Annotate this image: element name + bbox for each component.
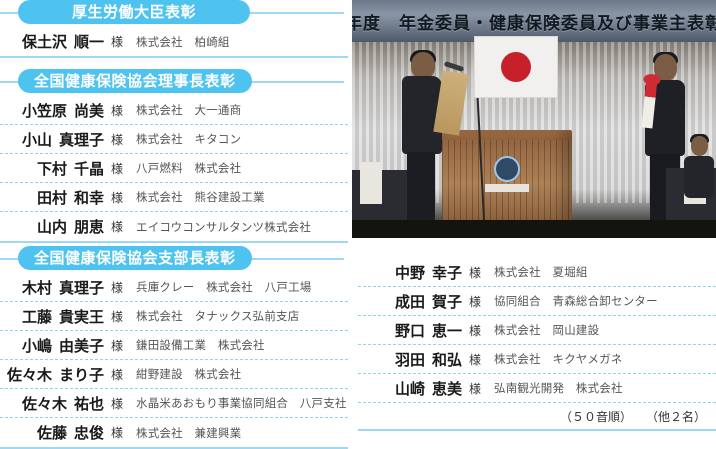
recipient-name: 下村 千晶 <box>0 158 104 179</box>
recipient-name: 佐々木 まり子 <box>0 364 104 385</box>
award-list-page: 年度 年金委員・健康保険委員及び事業主表彰 <box>0 0 716 441</box>
seated-official-figure <box>682 134 716 230</box>
section-end-rule <box>0 241 348 243</box>
honorific: 様 <box>104 308 130 325</box>
given-name: 千晶 <box>74 158 104 179</box>
recipient-name: 保土沢 順一 <box>0 31 104 52</box>
recipient-name: 野口 恵一 <box>358 320 462 341</box>
given-name: 和幸 <box>74 187 104 208</box>
honorific: 様 <box>104 337 130 354</box>
table-row: 下村 千晶 様 八戸燃料 株式会社 <box>0 154 348 183</box>
given-name: 真理子 <box>59 129 104 150</box>
given-name: 尚美 <box>74 100 104 121</box>
recipient-name: 成田 賀子 <box>358 291 462 312</box>
recipient-name: 山崎 恵美 <box>358 378 462 399</box>
company-name: 鎌田設備工業 株式会社 <box>136 337 265 353</box>
company-name: 株式会社 タナックス弘前支店 <box>136 308 299 324</box>
table-row: 山内 朋恵 様 エイコウコンサルタンツ株式会社 <box>0 212 348 241</box>
surname: 佐々木 <box>7 364 52 385</box>
section-header-chairman: 全国健康保険協会理事長表彰 <box>0 69 348 94</box>
recipient-name: 小山 真理子 <box>0 129 104 150</box>
podium-emblem-icon <box>494 156 520 182</box>
given-name: 恵一 <box>432 320 462 341</box>
surname: 成田 <box>395 291 425 312</box>
upper-left-column: 厚生労働大臣表彰 保土沢 順一 様 株式会社 柏崎組 全国健康保険協会理事長表彰 <box>0 0 348 243</box>
presenter-figure <box>398 48 446 228</box>
honorific: 様 <box>104 102 130 119</box>
given-name: 恵美 <box>432 378 462 399</box>
recipient-name: 佐々木 祐也 <box>0 393 104 414</box>
surname: 小笠原 <box>22 100 67 121</box>
surname: 保土沢 <box>22 31 67 52</box>
honorific: 様 <box>462 293 488 310</box>
section-header-branch: 全国健康保険協会支部長表彰 <box>0 246 348 271</box>
ceremony-photo: 年度 年金委員・健康保険委員及び事業主表彰 <box>352 0 716 238</box>
given-name: 真理子 <box>59 277 104 298</box>
surname: 下村 <box>37 158 67 179</box>
table-row: 野口 恵一 様 株式会社 岡山建設 <box>358 316 716 345</box>
company-name: 協同組合 青森総合卸センター <box>494 293 658 309</box>
honorific: 様 <box>462 351 488 368</box>
name-card-left <box>360 162 382 204</box>
surname: 佐藤 <box>37 422 67 443</box>
section-title: 全国健康保険協会支部長表彰 <box>34 251 236 266</box>
table-row: 木村 真理子 様 兵庫クレー 株式会社 八戸工場 <box>0 273 348 302</box>
surname: 小山 <box>22 129 52 150</box>
others-note: （他２名） <box>646 408 706 425</box>
given-name: 朋恵 <box>74 216 104 237</box>
recipient-name: 中野 幸子 <box>358 262 462 283</box>
honorific: 様 <box>104 424 130 441</box>
section-header-minister: 厚生労働大臣表彰 <box>0 0 348 25</box>
recipient-name: 木村 真理子 <box>0 277 104 298</box>
company-name: 弘南観光開発 株式会社 <box>494 380 623 396</box>
honorific: 様 <box>104 279 130 296</box>
section-title: 厚生労働大臣表彰 <box>72 5 196 20</box>
company-name: 株式会社 大一通商 <box>136 102 241 118</box>
table-row: 小笠原 尚美 様 株式会社 大一通商 <box>0 96 348 125</box>
award-rows-minister: 保土沢 順一 様 株式会社 柏崎組 <box>0 27 348 56</box>
order-note: （５０音順） <box>560 408 632 425</box>
honorific: 様 <box>104 131 130 148</box>
japan-flag-icon <box>474 36 558 98</box>
table-row: 保土沢 順一 様 株式会社 柏崎組 <box>0 27 348 56</box>
photo-banner-text: 年度 年金委員・健康保険委員及び事業主表彰 <box>352 9 716 34</box>
recipient-name: 佐藤 忠俊 <box>0 422 104 443</box>
honorific: 様 <box>104 189 130 206</box>
table-row: 工藤 貴実王 様 株式会社 タナックス弘前支店 <box>0 302 348 331</box>
honorific: 様 <box>104 366 130 383</box>
recipient-name: 小笠原 尚美 <box>0 100 104 121</box>
company-name: 株式会社 夏堀組 <box>494 264 588 280</box>
surname: 山崎 <box>395 378 425 399</box>
section-title: 全国健康保険協会理事長表彰 <box>34 74 236 89</box>
surname: 小嶋 <box>22 335 52 356</box>
branch-rows-left: 木村 真理子 様 兵庫クレー 株式会社 八戸工場 工藤 貴実王 様 株式会社 タ… <box>0 273 348 449</box>
table-row: 田村 和幸 様 株式会社 熊谷建設工業 <box>0 183 348 212</box>
company-name: 株式会社 岡山建設 <box>494 322 599 338</box>
given-name: まり子 <box>59 364 104 385</box>
recipient-name: 小嶋 由美子 <box>0 335 104 356</box>
section-pill: 厚生労働大臣表彰 <box>18 0 250 24</box>
company-name: 紺野建設 株式会社 <box>136 366 241 382</box>
given-name: 賀子 <box>432 291 462 312</box>
honorific: 様 <box>104 218 130 235</box>
table-row: 佐藤 忠俊 様 株式会社 兼建興業 <box>0 418 348 447</box>
section-end-rule <box>358 429 716 431</box>
recipient-name: 田村 和幸 <box>0 187 104 208</box>
table-row: 成田 賀子 様 協同組合 青森総合卸センター <box>358 287 716 316</box>
company-name: 株式会社 兼建興業 <box>136 425 241 441</box>
surname: 木村 <box>22 277 52 298</box>
surname: 中野 <box>395 262 425 283</box>
given-name: 忠俊 <box>74 422 104 443</box>
honorific: 様 <box>104 33 130 50</box>
section-pill: 全国健康保険協会理事長表彰 <box>18 69 252 93</box>
section-end-rule <box>0 56 348 58</box>
recipient-name: 羽田 和弘 <box>358 349 462 370</box>
given-name: 祐也 <box>74 393 104 414</box>
table-row: 佐々木 まり子 様 紺野建設 株式会社 <box>0 360 348 389</box>
table-row: 羽田 和弘 様 株式会社 キクヤメガネ <box>358 345 716 374</box>
surname: 野口 <box>395 320 425 341</box>
section-pill: 全国健康保険協会支部長表彰 <box>18 246 252 270</box>
given-name: 順一 <box>74 31 104 52</box>
honorific: 様 <box>462 264 488 281</box>
company-name: 株式会社 キクヤメガネ <box>494 351 622 367</box>
honorific: 様 <box>104 160 130 177</box>
company-name: 八戸燃料 株式会社 <box>136 160 241 176</box>
company-name: 株式会社 熊谷建設工業 <box>136 189 265 205</box>
company-name: 株式会社 キタコン <box>136 131 241 147</box>
surname: 田村 <box>37 187 67 208</box>
company-name: 兵庫クレー 株式会社 八戸工場 <box>136 279 312 295</box>
table-row: 中野 幸子 様 株式会社 夏堀組 <box>358 258 716 287</box>
photo-stage <box>352 42 716 238</box>
company-name: 株式会社 柏崎組 <box>136 34 230 50</box>
surname: 山内 <box>37 216 67 237</box>
recipient-name: 工藤 貴実王 <box>0 306 104 327</box>
honorific: 様 <box>104 395 130 412</box>
recipient-name: 山内 朋恵 <box>0 216 104 237</box>
given-name: 由美子 <box>59 335 104 356</box>
branch-rows-right: 中野 幸子 様 株式会社 夏堀組 成田 賀子 様 協同組合 青森総合卸センター … <box>358 258 716 431</box>
given-name: 幸子 <box>432 262 462 283</box>
table-row: 小嶋 由美子 様 鎌田設備工業 株式会社 <box>0 331 348 360</box>
podium <box>442 130 572 228</box>
company-name: 水晶米あおもり事業協同組合 八戸支社 <box>136 395 347 411</box>
table-row: 山崎 恵美 様 弘南観光開発 株式会社 <box>358 374 716 403</box>
honorific: 様 <box>462 380 488 397</box>
surname: 工藤 <box>22 306 52 327</box>
surname: 佐々木 <box>22 393 67 414</box>
award-rows-chairman: 小笠原 尚美 様 株式会社 大一通商 小山 真理子 様 株式会社 キタコン 下村… <box>0 96 348 241</box>
footer-notes: （５０音順） （他２名） <box>358 403 716 429</box>
section-header-branch-wrap: 全国健康保険協会支部長表彰 <box>0 246 348 273</box>
table-row: 小山 真理子 様 株式会社 キタコン <box>0 125 348 154</box>
company-name: エイコウコンサルタンツ株式会社 <box>136 219 311 235</box>
table-row: 佐々木 祐也 様 水晶米あおもり事業協同組合 八戸支社 <box>0 389 348 418</box>
surname: 羽田 <box>395 349 425 370</box>
given-name: 和弘 <box>432 349 462 370</box>
stage-floor <box>352 220 716 238</box>
honorific: 様 <box>462 322 488 339</box>
given-name: 貴実王 <box>59 306 104 327</box>
